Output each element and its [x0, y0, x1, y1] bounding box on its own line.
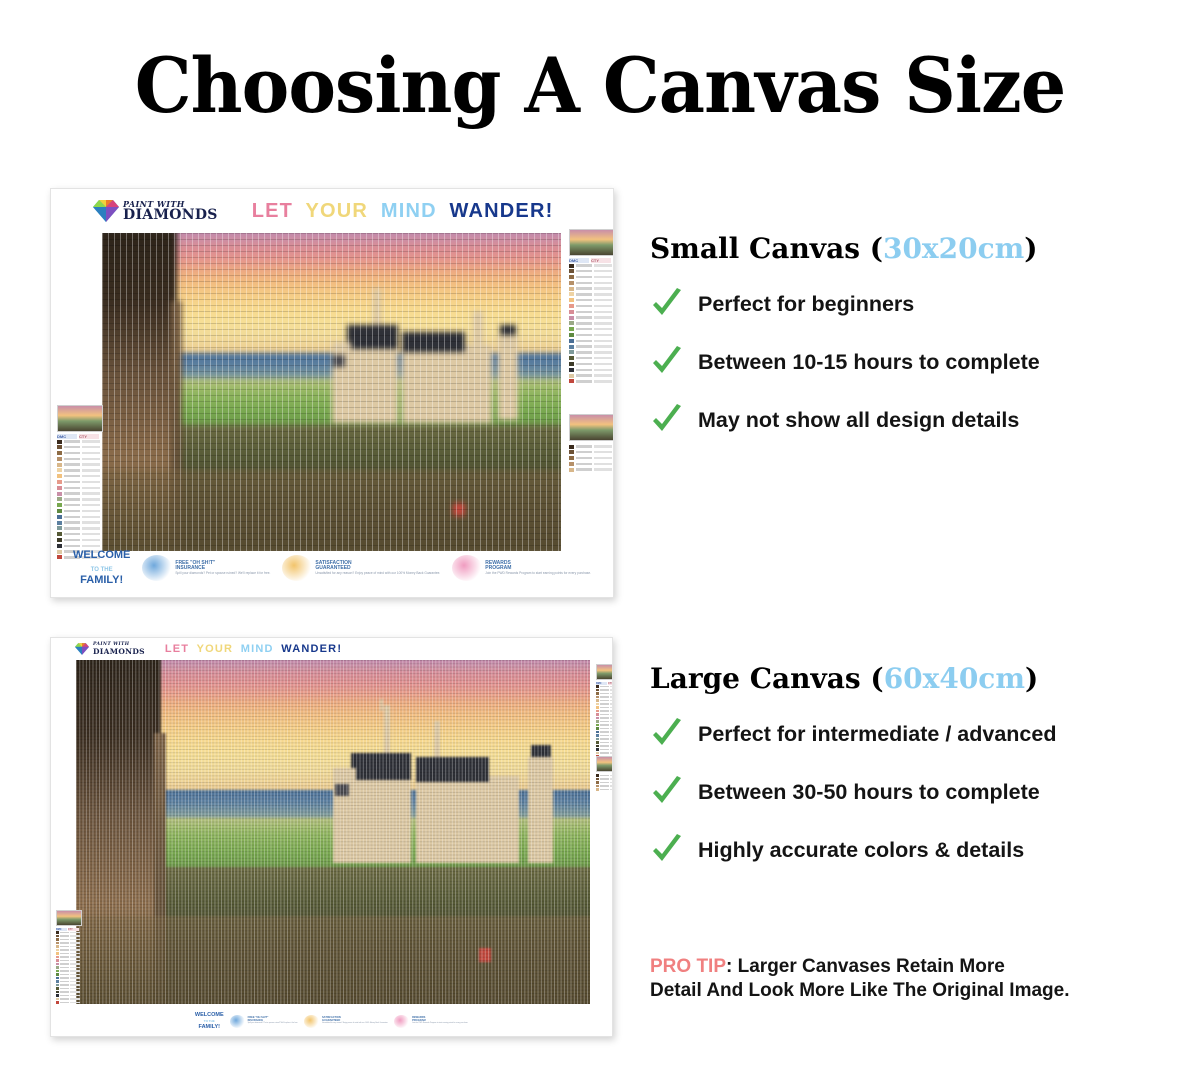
legend-swatch — [57, 457, 62, 461]
legend-col-dmc: DMC — [57, 434, 77, 439]
legend-swatch — [56, 970, 59, 972]
legend-swatch — [569, 310, 574, 314]
legend-rows — [56, 931, 82, 1004]
diamond-icon — [75, 643, 89, 655]
legend-swatch — [56, 931, 59, 933]
welcome-line-2: TO THE — [91, 567, 113, 573]
legend-code-bar — [600, 689, 609, 690]
dmc-color-table: DMC CTY — [57, 434, 103, 560]
legend-row — [57, 491, 103, 496]
small-heading-label: Small Canvas ( — [650, 232, 883, 265]
canvas-header-large: PAINT WITH DIAMONDS LET YOUR MIND WANDER… — [51, 638, 612, 660]
legend-thumbnail — [57, 405, 103, 432]
legend-rows — [57, 439, 103, 560]
legend-code-bar — [576, 305, 592, 307]
legend-count-bar — [82, 533, 100, 535]
legend-row — [569, 298, 614, 303]
legend-swatch — [569, 456, 574, 460]
benefit-badge: SATISFACTIONGUARANTEEDUnsatisfied for an… — [282, 555, 440, 581]
benefit-description: Join the PWD Rewards Program to start ea… — [412, 1023, 468, 1025]
legend-col-dmc: DMC — [569, 258, 589, 263]
legend-swatch — [57, 440, 62, 444]
slogan-word-3: MIND — [381, 200, 437, 222]
legend-count-bar — [594, 322, 612, 324]
legend-swatch — [596, 703, 599, 705]
legend-code-bar — [600, 742, 609, 743]
legend-code-bar — [600, 710, 609, 711]
legend-row — [57, 520, 103, 525]
legend-code-bar — [576, 468, 592, 470]
legend-swatch — [596, 727, 599, 729]
legend-code-bar — [600, 717, 609, 718]
legend-code-bar — [64, 492, 80, 494]
legend-count-bar — [82, 504, 100, 506]
legend-row — [57, 474, 103, 479]
legend-code-bar — [600, 703, 609, 704]
large-heading-label: Large Canvas ( — [650, 662, 884, 695]
legend-swatch — [569, 345, 574, 349]
legend-code-bar — [64, 458, 80, 460]
legend-code-bar — [64, 498, 80, 500]
benefit-badge: FREE "OH SH!T"INSURANCESpill your diamon… — [230, 1015, 298, 1028]
legend-code-bar — [64, 481, 80, 483]
color-legend-left-large: DMC CTY — [56, 910, 82, 1005]
legend-row — [596, 788, 613, 791]
feature-label: Between 10-15 hours to complete — [698, 350, 1040, 375]
legend-count-bar — [70, 963, 80, 964]
feature-item: Perfect for beginners — [650, 287, 1040, 321]
legend-row — [569, 338, 614, 343]
legend-swatch — [56, 998, 59, 1000]
small-canvas-feature-list: Perfect for beginnersBetween 10-15 hours… — [650, 287, 1040, 437]
legend-code-bar — [576, 276, 592, 278]
legend-code-bar — [576, 445, 592, 447]
legend-swatch — [569, 368, 574, 372]
slogan-word-2: YOUR — [305, 200, 368, 222]
legend-swatch — [57, 532, 62, 536]
legend-code-bar — [60, 960, 69, 961]
legend-swatch — [596, 689, 599, 691]
feature-item: May not show all design details — [650, 403, 1040, 437]
legend-code-bar — [600, 785, 609, 786]
legend-code-bar — [64, 446, 80, 448]
legend-swatch — [569, 339, 574, 343]
check-icon — [650, 287, 684, 321]
legend-code-bar — [600, 735, 609, 736]
legend-code-bar — [60, 998, 69, 999]
legend-swatch — [57, 509, 62, 513]
legend-code-bar — [576, 340, 592, 342]
large-canvas-info: Large Canvas (60x40cm) Perfect for inter… — [650, 662, 1056, 891]
legend-row — [569, 304, 614, 309]
legend-code-bar — [576, 369, 592, 371]
legend-col-cty: CTY — [608, 682, 613, 685]
legend-code-bar — [64, 452, 80, 454]
legend-col-cty: CTY — [591, 258, 611, 263]
legend-code-bar — [60, 995, 69, 996]
legend-row — [569, 269, 614, 274]
legend-count-bar — [594, 276, 612, 278]
slogan-word-4: WANDER! — [450, 200, 554, 222]
legend-code-bar — [64, 475, 80, 477]
legend-count-bar — [82, 516, 100, 518]
legend-count-bar — [594, 374, 612, 376]
legend-count-bar — [610, 717, 613, 718]
legend-row — [569, 456, 614, 461]
legend-swatch — [56, 991, 59, 993]
legend-row — [569, 373, 614, 378]
legend-count-bar — [82, 510, 100, 512]
legend-code-bar — [600, 731, 609, 732]
color-legend-right-small: DMC CTY — [569, 229, 614, 385]
legend-code-bar — [60, 984, 69, 985]
legend-swatch — [569, 298, 574, 302]
legend-swatch — [596, 745, 599, 747]
legend-count-bar — [594, 282, 612, 284]
legend-swatch — [569, 379, 574, 383]
legend-row — [569, 263, 614, 268]
legend-code-bar — [600, 752, 609, 753]
legend-code-bar — [576, 351, 592, 353]
check-icon — [650, 717, 684, 751]
benefit-description: Spill your diamonds? Pet or spouse ruine… — [248, 1023, 298, 1025]
legend-code-bar — [600, 745, 609, 746]
legend-row — [57, 462, 103, 467]
legend-code-bar — [576, 270, 592, 272]
legend-count-bar — [594, 345, 612, 347]
legend-count-bar — [70, 949, 80, 950]
legend-swatch — [569, 462, 574, 466]
legend-count-bar — [594, 293, 612, 295]
legend-count-bar — [82, 481, 100, 483]
legend-swatch — [569, 333, 574, 337]
legend-row — [569, 379, 614, 384]
legend-count-bar — [594, 357, 612, 359]
feature-item: Between 30-50 hours to complete — [650, 775, 1056, 809]
legend-count-bar — [594, 351, 612, 353]
legend-count-bar — [594, 305, 612, 307]
feature-label: May not show all design details — [698, 408, 1019, 433]
legend-swatch — [56, 956, 59, 958]
legend-swatch — [56, 984, 59, 986]
legend-swatch — [596, 738, 599, 740]
legend-swatch — [57, 526, 62, 530]
legend-rows — [596, 774, 613, 791]
legend-count-bar — [70, 981, 80, 982]
benefit-badge: REWARDSPROGRAMJoin the PWD Rewards Progr… — [452, 555, 591, 581]
welcome-line-2: TO THE — [204, 1019, 215, 1023]
legend-swatch — [57, 468, 62, 472]
legend-count-bar — [610, 714, 613, 715]
welcome-line-1: WELCOME — [73, 549, 130, 561]
benefit-text: FREE "OH SH!T"INSURANCESpill your diamon… — [175, 561, 270, 576]
legend-code-bar — [576, 363, 592, 365]
legend-swatch — [596, 752, 599, 754]
canvas-footer-large: WELCOME TO THE FAMILY! FREE "OH SH!T"INS… — [51, 1009, 612, 1033]
legend-swatch — [569, 327, 574, 331]
welcome-line-1: WELCOME — [195, 1012, 224, 1018]
large-canvas-feature-list: Perfect for intermediate / advancedBetwe… — [650, 717, 1056, 867]
confetti-gift-icon — [394, 1015, 409, 1028]
legend-count-bar — [82, 498, 100, 500]
legend-swatch — [569, 362, 574, 366]
legend-code-bar — [60, 974, 69, 975]
legend-swatch — [569, 350, 574, 354]
legend-count-bar — [594, 369, 612, 371]
legend-code-bar — [60, 970, 69, 971]
legend-code-bar — [60, 956, 69, 957]
legend-swatch — [569, 292, 574, 296]
legend-count-bar — [82, 463, 100, 465]
legend-code-bar — [600, 707, 609, 708]
qr-panel-right-large: SCAN THE PWD CODE — [596, 756, 613, 792]
legend-code-bar — [60, 981, 69, 982]
legend-count-bar — [610, 710, 613, 711]
legend-swatch — [569, 321, 574, 325]
legend-count-bar — [70, 970, 80, 971]
legend-code-bar — [576, 322, 592, 324]
legend-count-bar — [70, 984, 80, 985]
legend-code-bar — [600, 714, 609, 715]
slogan-word-2: YOUR — [197, 643, 234, 655]
check-icon — [650, 833, 684, 867]
legend-row — [569, 321, 614, 326]
small-heading-close: ) — [1024, 232, 1037, 265]
legend-count-bar — [610, 735, 613, 736]
legend-count-bar — [70, 998, 80, 999]
legend-count-bar — [610, 742, 613, 743]
legend-code-bar — [64, 533, 80, 535]
legend-swatch — [569, 304, 574, 308]
qr-panel-right-small: SCAN THE PWD CODE — [569, 414, 614, 473]
legend-count-bar — [70, 977, 80, 978]
benefits-list: FREE "OH SH!T"INSURANCESpill your diamon… — [142, 555, 591, 581]
legend-swatch — [56, 963, 59, 965]
legend-code-bar — [576, 451, 592, 453]
legend-count-bar — [70, 1002, 80, 1003]
legend-row — [569, 309, 614, 314]
color-legend-left-small: DMC CTY — [57, 405, 103, 561]
legend-swatch — [596, 774, 599, 776]
legend-code-bar — [64, 469, 80, 471]
legend-rows — [569, 444, 614, 472]
legend-swatch — [57, 503, 62, 507]
legend-code-bar — [576, 311, 592, 313]
legend-swatch — [596, 734, 599, 736]
benefit-text: SATISFACTIONGUARANTEEDUnsatisfied for an… — [315, 561, 440, 576]
legend-code-bar — [576, 328, 592, 330]
legend-count-bar — [82, 440, 100, 442]
legend-row — [569, 350, 614, 355]
small-canvas-info: Small Canvas (30x20cm) Perfect for begin… — [650, 232, 1040, 461]
benefit-description: Spill your diamonds? Pet or spouse ruine… — [175, 572, 270, 576]
legend-count-bar — [610, 721, 613, 722]
benefit-description: Join the PWD Rewards Program to start ea… — [485, 572, 591, 576]
legend-count-bar — [70, 967, 80, 968]
legend-swatch — [596, 781, 599, 783]
legend-code-bar — [60, 967, 69, 968]
legend-count-bar — [82, 469, 100, 471]
legend-swatch — [569, 356, 574, 360]
legend-count-bar — [594, 463, 612, 465]
canvas-header-small: PAINT WITH DIAMONDS LET YOUR MIND WANDER… — [51, 189, 613, 233]
legend-code-bar — [576, 282, 592, 284]
legend-code-bar — [600, 775, 609, 776]
legend-code-bar — [600, 686, 609, 687]
legend-code-bar — [64, 487, 80, 489]
legend-row — [569, 292, 614, 297]
legend-row — [569, 333, 614, 338]
legend-count-bar — [610, 738, 613, 739]
page-title: Choosing A Canvas Size — [36, 48, 1164, 124]
feature-item: Perfect for intermediate / advanced — [650, 717, 1056, 751]
legend-col-cty: CTY — [79, 434, 99, 439]
legend-swatch — [569, 374, 574, 378]
legend-count-bar — [610, 749, 613, 750]
legend-row — [57, 468, 103, 473]
welcome-badge: WELCOME TO THE FAMILY! — [73, 549, 130, 587]
legend-swatch — [596, 696, 599, 698]
pro-tip-line-1: : Larger Canvases Retain More — [726, 956, 1005, 977]
canvas-slogan-small: LET YOUR MIND WANDER! — [252, 200, 560, 223]
legend-count-bar — [610, 731, 613, 732]
legend-code-bar — [60, 939, 69, 940]
large-canvas-heading: Large Canvas (60x40cm) — [650, 662, 1056, 695]
legend-code-bar — [64, 527, 80, 529]
legend-code-bar — [576, 380, 592, 382]
legend-swatch — [57, 463, 62, 467]
legend-code-bar — [60, 942, 69, 943]
legend-code-bar — [600, 696, 609, 697]
legend-count-bar — [594, 451, 612, 453]
large-canvas-dimensions: 60x40cm — [884, 662, 1025, 695]
legend-row — [569, 275, 614, 280]
legend-row — [57, 456, 103, 461]
benefit-badge: SATISFACTIONGUARANTEEDUnsatisfied for an… — [304, 1015, 388, 1028]
dmc-color-table: DMC CTY — [569, 258, 614, 384]
legend-code-bar — [60, 988, 69, 989]
small-canvas-mockup: PAINT WITH DIAMONDS LET YOUR MIND WANDER… — [50, 188, 614, 598]
feature-label: Perfect for beginners — [698, 292, 914, 317]
legend-swatch — [57, 497, 62, 501]
legend-count-bar — [610, 745, 613, 746]
pro-tip-line-2: Detail And Look More Like The Original I… — [650, 980, 1069, 1001]
legend-swatch — [596, 713, 599, 715]
legend-count-bar — [70, 953, 80, 954]
legend-row — [57, 451, 103, 456]
legend-code-bar — [600, 693, 609, 694]
legend-count-bar — [70, 942, 80, 943]
legend-swatch — [56, 949, 59, 951]
legend-swatch — [596, 778, 599, 780]
legend-swatch — [57, 445, 62, 449]
legend-swatch — [56, 1001, 59, 1003]
legend-count-bar — [610, 789, 613, 790]
legend-count-bar — [70, 946, 80, 947]
legend-count-bar — [610, 785, 613, 786]
legend-count-bar — [70, 956, 80, 957]
certificate-icon — [304, 1015, 319, 1028]
feature-item: Between 10-15 hours to complete — [650, 345, 1040, 379]
canvas-slogan-large: LET YOUR MIND WANDER! — [165, 643, 346, 655]
legend-swatch — [596, 685, 599, 687]
legend-count-bar — [82, 492, 100, 494]
legend-count-bar — [594, 457, 612, 459]
legend-swatch — [56, 994, 59, 996]
legend-swatch — [56, 952, 59, 954]
legend-code-bar — [600, 778, 609, 779]
brand-logo-small: PAINT WITH DIAMONDS — [93, 200, 218, 222]
color-legend-right-large: DMC CTY — [596, 664, 613, 759]
legend-count-bar — [610, 778, 613, 779]
legend-code-bar — [600, 782, 609, 783]
legend-code-bar — [600, 700, 609, 701]
legend-swatch — [56, 987, 59, 989]
legend-swatch — [56, 935, 59, 937]
legend-swatch — [569, 316, 574, 320]
legend-code-bar — [576, 299, 592, 301]
confetti-gift-icon — [452, 555, 482, 581]
legend-code-bar — [64, 539, 80, 541]
legend-swatch — [56, 980, 59, 982]
legend-row — [57, 514, 103, 519]
brand-logo-large: PAINT WITH DIAMONDS — [75, 643, 145, 655]
legend-code-bar — [60, 946, 69, 947]
legend-rows — [596, 685, 613, 758]
canvas-artwork-large — [76, 660, 590, 1004]
legend-count-bar — [82, 527, 100, 529]
legend-swatch — [596, 699, 599, 701]
benefit-description: Unsatisfied for any reason? Enjoy peace … — [322, 1023, 388, 1025]
legend-code-bar — [600, 738, 609, 739]
legend-row — [56, 1001, 82, 1004]
diamond-icon — [93, 200, 119, 222]
legend-swatch — [596, 731, 599, 733]
legend-row — [569, 461, 614, 466]
legend-count-bar — [610, 728, 613, 729]
legend-count-bar — [594, 311, 612, 313]
legend-count-bar — [594, 299, 612, 301]
legend-code-bar — [60, 991, 69, 992]
feature-item: Highly accurate colors & details — [650, 833, 1056, 867]
feature-label: Between 30-50 hours to complete — [698, 780, 1040, 805]
benefit-text: REWARDSPROGRAMJoin the PWD Rewards Progr… — [485, 561, 591, 576]
pro-tip-note: PRO TIP: Larger Canvases Retain More Det… — [650, 955, 1069, 1004]
legend-code-bar — [60, 935, 69, 936]
slogan-word-4: WANDER! — [281, 643, 342, 655]
legend-code-bar — [600, 789, 609, 790]
legend-count-bar — [70, 988, 80, 989]
legend-swatch — [569, 264, 574, 268]
legend-code-bar — [64, 510, 80, 512]
legend-swatch — [57, 451, 62, 455]
benefit-text: SATISFACTIONGUARANTEEDUnsatisfied for an… — [322, 1017, 388, 1025]
legend-row — [57, 532, 103, 537]
legend-thumbnail — [569, 229, 614, 256]
legend-count-bar — [70, 991, 80, 992]
benefit-badge: FREE "OH SH!T"INSURANCESpill your diamon… — [142, 555, 270, 581]
legend-row — [569, 280, 614, 285]
welcome-badge: WELCOME TO THE FAMILY! — [195, 1012, 224, 1031]
legend-count-bar — [70, 932, 80, 933]
legend-count-bar — [82, 458, 100, 460]
legend-row — [569, 344, 614, 349]
legend-count-bar — [70, 960, 80, 961]
legend-count-bar — [610, 775, 613, 776]
legend-row — [569, 327, 614, 332]
legend-swatch — [569, 281, 574, 285]
legend-row — [569, 450, 614, 455]
